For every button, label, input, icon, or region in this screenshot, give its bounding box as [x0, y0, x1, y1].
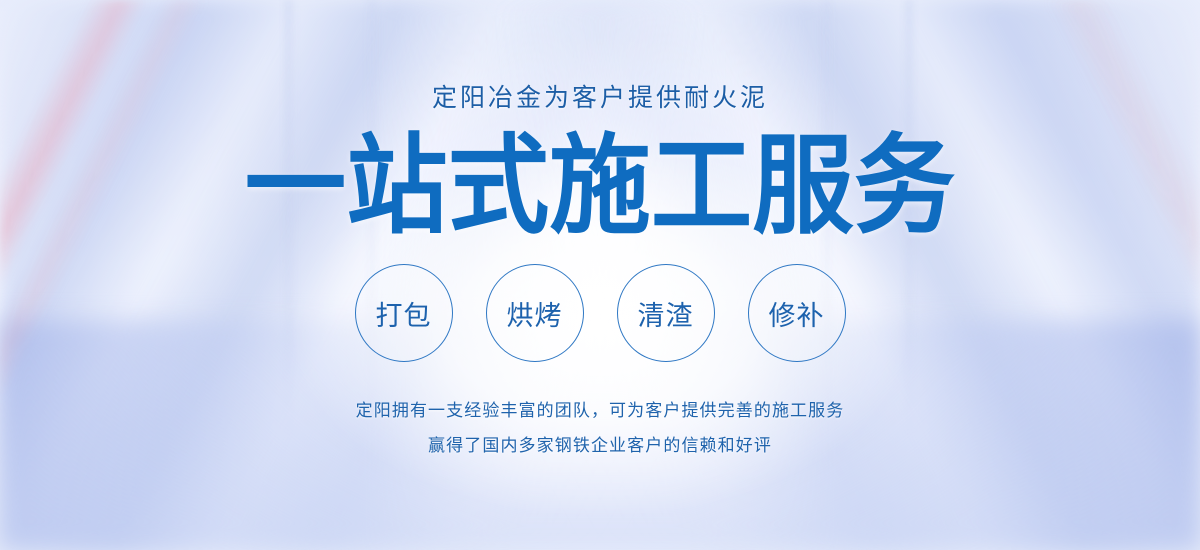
service-badge-label: 清渣	[638, 294, 694, 333]
banner-content: 定阳冶金为客户提供耐火泥 一站式施工服务 打包 烘烤 清渣 修补 定阳拥有一支经…	[0, 0, 1200, 550]
service-badge-baking[interactable]: 烘烤	[486, 264, 584, 362]
service-badge-packing[interactable]: 打包	[355, 264, 453, 362]
service-badge-slag-cleaning[interactable]: 清渣	[617, 264, 715, 362]
promotional-banner: 定阳冶金为客户提供耐火泥 一站式施工服务 打包 烘烤 清渣 修补 定阳拥有一支经…	[0, 0, 1200, 550]
banner-headline: 一站式施工服务	[36, 133, 1164, 241]
service-badge-label: 烘烤	[507, 294, 563, 333]
service-badge-repair[interactable]: 修补	[748, 264, 846, 362]
banner-tagline-primary: 定阳拥有一支经验丰富的团队，可为客户提供完善的施工服务	[0, 396, 1200, 421]
service-badge-label: 修补	[769, 294, 825, 333]
service-badge-label: 打包	[376, 294, 432, 333]
banner-tagline-secondary: 赢得了国内多家钢铁企业客户的信赖和好评	[0, 431, 1200, 456]
banner-subheadline: 定阳冶金为客户提供耐火泥	[0, 78, 1200, 114]
service-badge-row: 打包 烘烤 清渣 修补	[0, 264, 1200, 362]
